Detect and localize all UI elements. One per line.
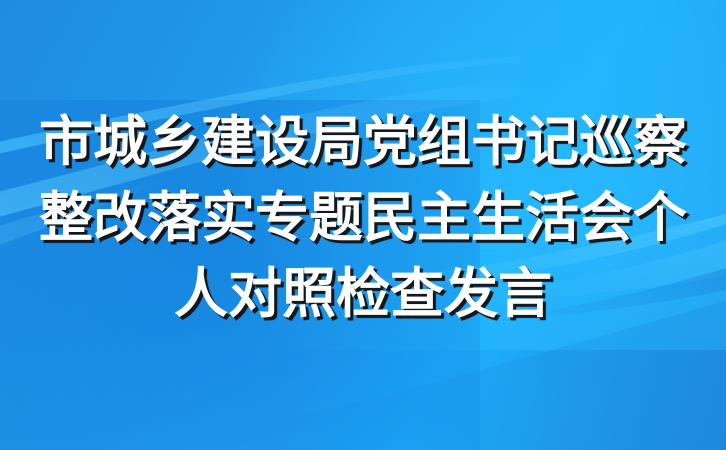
headline-line-3: 人对照检查发言 [0, 256, 726, 332]
title-banner: 市城乡建设局党组书记巡察 整改落实专题民主生活会个 人对照检查发言 [0, 0, 726, 450]
headline: 市城乡建设局党组书记巡察 整改落实专题民主生活会个 人对照检查发言 [0, 104, 726, 332]
headline-line-1: 市城乡建设局党组书记巡察 [0, 104, 726, 180]
headline-line-2: 整改落实专题民主生活会个 [0, 180, 726, 256]
